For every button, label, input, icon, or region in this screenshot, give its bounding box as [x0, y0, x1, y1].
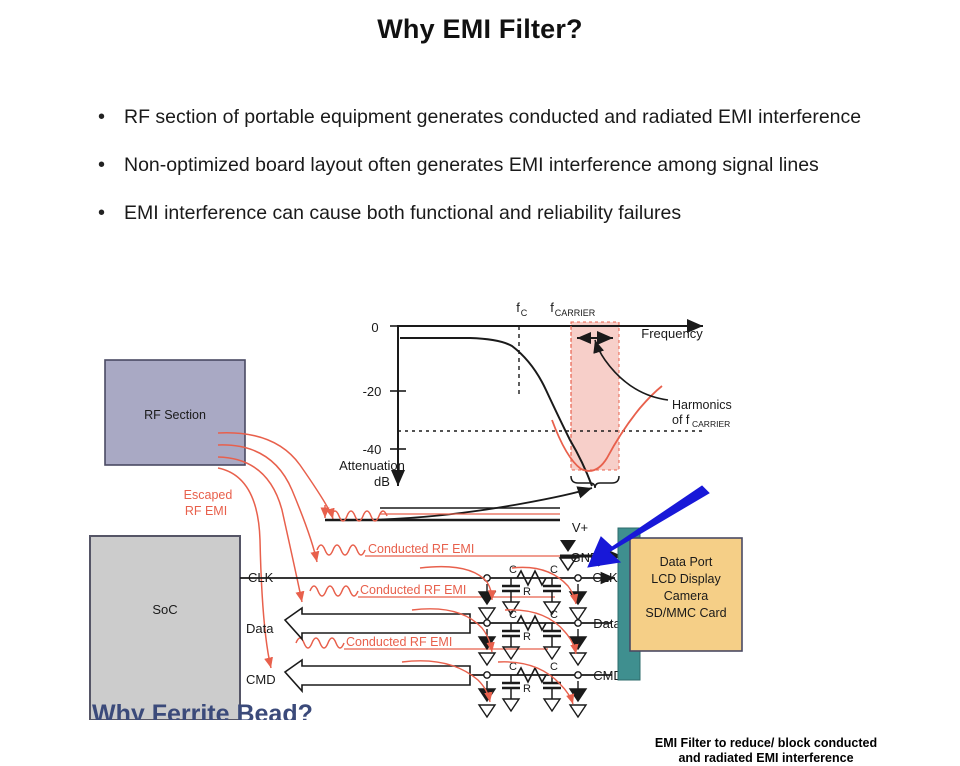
- soc-pin-cmd-label: CMD: [246, 672, 276, 687]
- y-tick-label-minus40: -40: [363, 442, 382, 457]
- pi-filter-stages: R C C: [479, 564, 623, 717]
- peripheral-line-1: Data Port: [660, 555, 713, 569]
- x-tick-label-fc: f C: [516, 300, 528, 318]
- bullet-text: RF section of portable equipment generat…: [124, 104, 861, 130]
- cmd-diode-left-ground-icon: [479, 705, 495, 717]
- peripheral-line-4: SD/MMC Card: [645, 606, 726, 620]
- cmd-node-left: [484, 672, 490, 678]
- band-brace: [571, 476, 619, 488]
- svg-text:CARRIER: CARRIER: [692, 419, 730, 429]
- svg-text:C: C: [521, 308, 528, 318]
- list-item: • EMI interference can cause both functi…: [98, 200, 868, 226]
- data-diode-right-ground-icon: [570, 653, 586, 665]
- next-slide-heading-clipped: Why Ferrite Bead?: [92, 702, 392, 720]
- bullet-text: Non-optimized board layout often generat…: [124, 152, 819, 178]
- data-node-right: [575, 620, 581, 626]
- clk-diode-right-ground-icon: [570, 608, 586, 620]
- svg-text:f: f: [516, 300, 520, 315]
- harmonics-label-line2: of f CARRIER: [672, 413, 730, 429]
- conducted-rf-emi-label-1: Conducted RF EMI: [368, 542, 474, 556]
- cmd-diode-right-ground-icon: [570, 705, 586, 717]
- data-diode-right-icon: [570, 629, 586, 649]
- x-tick-label-fcarrier: f CARRIER: [550, 300, 596, 318]
- bullet-list: • RF section of portable equipment gener…: [98, 104, 868, 248]
- emi-filter-diagram: 0 -20 -40 Attenuation dB Frequency f C f…: [0, 290, 960, 720]
- data-cap1-label: C: [509, 609, 517, 621]
- power-rail: V+ GND: [325, 505, 622, 570]
- callout-text: EMI Filter to reduce/ block conducted an…: [652, 736, 880, 766]
- cmd-cap1-ground-icon: [503, 699, 519, 711]
- cmd-cap2-ground-icon: [544, 699, 560, 711]
- conducted-waveform-3: [296, 638, 344, 648]
- soc-label: SoC: [152, 602, 177, 617]
- filter-stage-data: R C C Data: [479, 609, 621, 665]
- y-tick-label-minus20: -20: [363, 384, 382, 399]
- cmd-cap2-label: C: [550, 661, 558, 673]
- x-axis-label: Frequency: [641, 326, 703, 341]
- clk-node-right: [575, 575, 581, 581]
- svg-text:of f: of f: [672, 413, 690, 427]
- peripheral-line-2: LCD Display: [651, 572, 721, 586]
- peripheral-line-3: Camera: [664, 589, 709, 603]
- data-diode-left-ground-icon: [479, 653, 495, 665]
- vplus-label: V+: [572, 520, 588, 535]
- data-output-label: Data: [593, 616, 621, 631]
- peripheral-block: Data Port LCD Display Camera SD/MMC Card: [630, 538, 742, 651]
- bullet-marker-icon: •: [98, 152, 124, 178]
- soc-rect: [90, 536, 240, 720]
- svg-text:CARRIER: CARRIER: [555, 308, 596, 318]
- bullet-marker-icon: •: [98, 104, 124, 130]
- cmd-resistor-label: R: [523, 683, 531, 695]
- slide-root: Why EMI Filter? • RF section of portable…: [0, 0, 960, 720]
- bullet-marker-icon: •: [98, 200, 124, 226]
- y-axis-label-line1: Attenuation: [339, 458, 405, 473]
- list-item: • RF section of portable equipment gener…: [98, 104, 868, 130]
- filter-response-curve: [400, 338, 592, 486]
- rf-section-block: RF Section: [105, 360, 245, 465]
- y-tick-label-0: 0: [371, 320, 378, 335]
- data-diode-left-icon: [479, 629, 495, 649]
- harmonics-label-line1: Harmonics: [672, 398, 732, 412]
- diagram-svg: 0 -20 -40 Attenuation dB Frequency f C f…: [0, 290, 960, 720]
- clk-diode-left-ground-icon: [479, 608, 495, 620]
- cmd-bus-line: [285, 660, 470, 691]
- conducted-waveform-1: [317, 545, 365, 555]
- conducted-waveform-2: [310, 586, 358, 596]
- data-resistor-label: R: [523, 631, 531, 643]
- page-title: Why EMI Filter?: [0, 14, 960, 45]
- attenuation-chart: 0 -20 -40 Attenuation dB Frequency f C f…: [330, 300, 732, 520]
- clk-output-label: CLK: [592, 570, 618, 585]
- escaped-rf-emi-label-line1: Escaped: [184, 488, 233, 502]
- conducted-rf-emi-label-2: Conducted RF EMI: [360, 583, 466, 597]
- list-item: • Non-optimized board layout often gener…: [98, 152, 868, 178]
- data-node-left: [484, 620, 490, 626]
- circuit-to-chart-arrow: [330, 488, 592, 520]
- conducted-rf-emi-label-3: Conducted RF EMI: [346, 635, 452, 649]
- escaped-rf-emi-label-line2: RF EMI: [185, 504, 227, 518]
- soc-block: SoC: [90, 536, 240, 720]
- bullet-text: EMI interference can cause both function…: [124, 200, 681, 226]
- svg-text:f: f: [550, 300, 554, 315]
- cmd-diode-right-icon: [570, 681, 586, 701]
- y-axis-label-line2: dB: [374, 474, 390, 489]
- clk-cap1-label: C: [509, 564, 517, 576]
- filter-stage-cmd: R C C CMD: [479, 661, 623, 717]
- rf-section-label: RF Section: [144, 408, 206, 422]
- clk-resistor-label: R: [523, 586, 531, 598]
- cmd-node-right: [575, 672, 581, 678]
- clk-diode-left-icon: [479, 584, 495, 604]
- soc-pin-data-label: Data: [246, 621, 274, 636]
